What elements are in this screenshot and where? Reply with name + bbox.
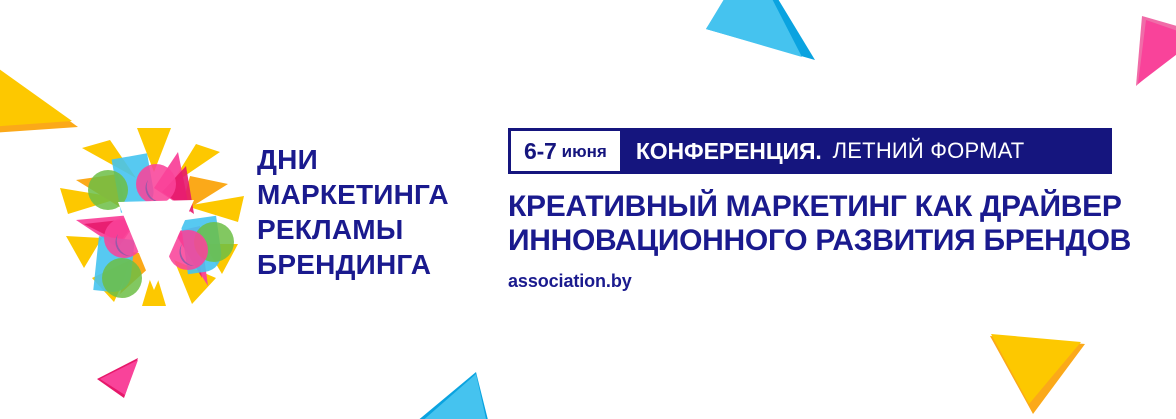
brand-wordmark-line-1: ДНИ (257, 142, 487, 177)
triangle-bottom-left-pink-icon (94, 352, 156, 402)
brand-wordmark-line-4: БРЕНДИНГА (257, 247, 487, 282)
headline-line-2: ИННОВАЦИОННОГО РАЗВИТИЯ БРЕНДОВ (508, 224, 1120, 258)
date-badge: 6-7 июня (511, 131, 620, 171)
event-format-label: ЛЕТНИЙ ФОРМАТ (833, 140, 1025, 162)
brand-wordmark: ДНИ МАРКЕТИНГА РЕКЛАМЫ БРЕНДИНГА (257, 142, 487, 282)
page-title: КРЕАТИВНЫЙ МАРКЕТИНГ КАК ДРАЙВЕР ИННОВАЦ… (508, 190, 1120, 258)
promo-banner: ДНИ МАРКЕТИНГА РЕКЛАМЫ БРЕНДИНГА 6-7 июн… (0, 0, 1176, 419)
brand-wordmark-line-3: РЕКЛАМЫ (257, 212, 487, 247)
event-info-column: 6-7 июня КОНФЕРЕНЦИЯ. ЛЕТНИЙ ФОРМАТ КРЕА… (508, 128, 1120, 291)
brand-wordmark-line-2: МАРКЕТИНГА (257, 177, 487, 212)
triangle-bottom-center-blue-icon (404, 370, 514, 419)
website-url[interactable]: association.by (508, 271, 1120, 291)
triangle-top-right-pink-icon (1128, 8, 1176, 103)
event-strip: 6-7 июня КОНФЕРЕНЦИЯ. ЛЕТНИЙ ФОРМАТ (508, 128, 1112, 174)
date-month-label: июня (562, 143, 607, 160)
event-type-label: КОНФЕРЕНЦИЯ. (636, 140, 822, 163)
triangle-bottom-right-yellow-icon (985, 330, 1095, 419)
date-range-label: 6-7 (524, 140, 557, 163)
triangle-top-center-cyan-icon (690, 0, 860, 64)
event-type-label-group: КОНФЕРЕНЦИЯ. ЛЕТНИЙ ФОРМАТ (620, 128, 1025, 174)
starburst-logo-mark-icon (58, 126, 248, 308)
headline-line-1: КРЕАТИВНЫЙ МАРКЕТИНГ КАК ДРАЙВЕР (508, 190, 1120, 224)
